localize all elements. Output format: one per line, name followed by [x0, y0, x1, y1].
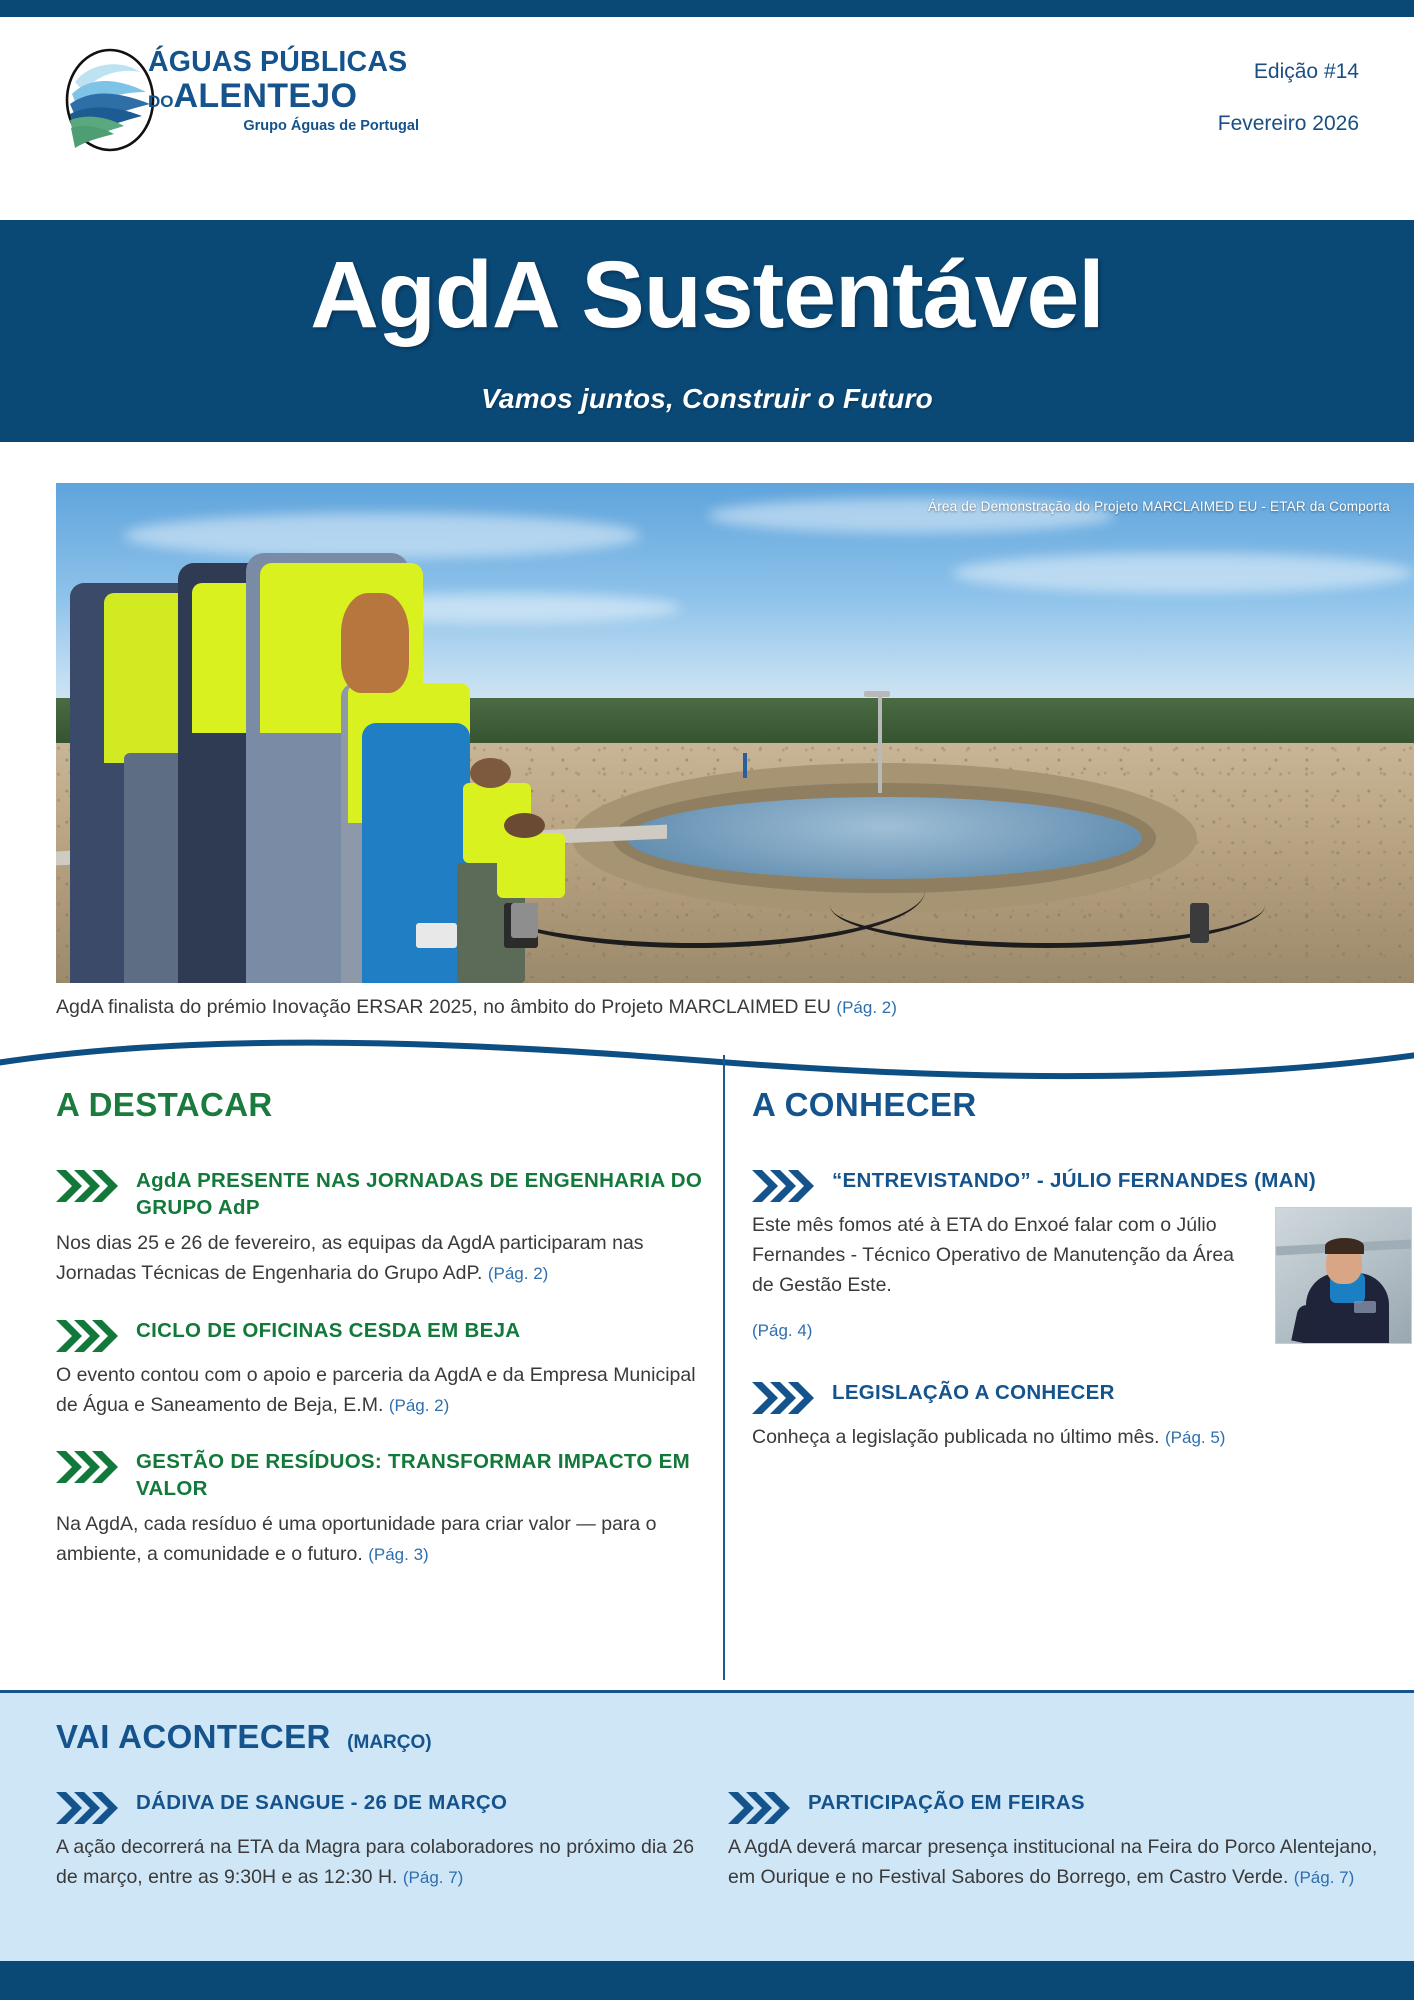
interview-text: Este mês fomos até à ETA do Enxoé falar …: [752, 1203, 1257, 1345]
photo-person-head: [470, 758, 511, 788]
destacar-item[interactable]: CICLO DE OFICINAS CESDA EM BEJA O evento…: [56, 1317, 706, 1420]
hero-overlay-caption: Área de Demonstração do Projeto MARCLAIM…: [928, 499, 1390, 514]
acontecer-item-header: DÁDIVA DE SANGUE - 26 DE MARÇO: [56, 1789, 696, 1825]
edition-info: Edição #14 Fevereiro 2026: [1218, 61, 1359, 165]
destacar-item-header: CICLO DE OFICINAS CESDA EM BEJA: [56, 1317, 706, 1353]
photo-cloud: [124, 513, 640, 558]
photo-hivis-vest: [497, 833, 565, 898]
section-title-acontecer: VAI ACONTECER: [56, 1718, 331, 1755]
photo-cloud: [952, 553, 1414, 593]
conhecer-item-header: LEGISLAÇÃO A CONHECER: [752, 1379, 1412, 1415]
acontecer-item-page-ref[interactable]: (Pág. 7): [1294, 1868, 1354, 1887]
logo-line-1: ÁGUAS PÚBLICAS: [148, 48, 423, 77]
acontecer-section: VAI ACONTECER (MARÇO) DÁDIVA DE SANGUE -…: [0, 1690, 1414, 1964]
conhecer-item[interactable]: “ENTREVISTANDO” - JÚLIO FERNANDES (MAN) …: [752, 1167, 1412, 1345]
photo-person-head: [504, 813, 545, 838]
photo-sample-cylinder: [511, 903, 538, 938]
newsletter-page: ÁGUAS PÚBLICAS DOALENTEJO Grupo Águas de…: [0, 0, 1414, 2000]
bottom-accent-bar: [0, 1961, 1414, 2000]
page-subtitle: Vamos juntos, Construir o Futuro: [0, 383, 1414, 415]
destacar-item-text: Nos dias 25 e 26 de fevereiro, as equipa…: [56, 1232, 644, 1284]
section-title-acontecer-wrap: VAI ACONTECER (MARÇO): [56, 1720, 432, 1753]
destacar-item-title: GESTÃO DE RESÍDUOS: TRANSFORMAR IMPACTO …: [136, 1448, 706, 1502]
destacar-item-page-ref[interactable]: (Pág. 3): [368, 1545, 428, 1564]
logo-do-word: DO: [148, 92, 174, 111]
interviewee-photo: [1275, 1207, 1412, 1344]
acontecer-item-title: DÁDIVA DE SANGUE - 26 DE MARÇO: [136, 1789, 507, 1816]
destacar-item-text: O evento contou com o apoio e parceria d…: [56, 1364, 696, 1416]
logo-wordmark: ÁGUAS PÚBLICAS DOALENTEJO Grupo Águas de…: [148, 48, 423, 134]
destacar-item[interactable]: AgdA PRESENTE NAS JORNADAS DE ENGENHARIA…: [56, 1167, 706, 1289]
conhecer-item-header: “ENTREVISTANDO” - JÚLIO FERNANDES (MAN): [752, 1167, 1412, 1203]
conhecer-item-body: Conheça a legislação publicada no último…: [752, 1422, 1412, 1452]
chevron-triple-icon: [56, 1319, 120, 1353]
conhecer-item-text: Conheça a legislação publicada no último…: [752, 1426, 1160, 1448]
edition-date: Fevereiro 2026: [1218, 113, 1359, 134]
hero-caption: AgdA finalista do prémio Inovação ERSAR …: [56, 996, 897, 1019]
photo-marker-post: [743, 753, 747, 778]
chevron-triple-icon: [56, 1169, 120, 1203]
destacar-item-body: Nos dias 25 e 26 de fevereiro, as equipa…: [56, 1228, 706, 1288]
destacar-item-body: O evento contou com o apoio e parceria d…: [56, 1360, 706, 1420]
top-accent-bar: [0, 0, 1414, 17]
chevron-triple-icon: [752, 1381, 816, 1415]
section-subtitle-acontecer: (MARÇO): [347, 1732, 431, 1753]
conhecer-item-page-ref[interactable]: (Pág. 4): [752, 1321, 812, 1340]
acontecer-item[interactable]: PARTICIPAÇÃO EM FEIRAS A AgdA deverá mar…: [728, 1789, 1388, 1892]
logo-water-drop-icon: [62, 48, 158, 152]
hero-photo-image: [56, 483, 1414, 983]
section-title-conhecer: A CONHECER: [752, 1088, 1412, 1121]
photo-probe: [1190, 903, 1209, 943]
conhecer-item-body: Este mês fomos até à ETA do Enxoé falar …: [752, 1210, 1257, 1301]
conhecer-item-page-ref[interactable]: (Pág. 5): [1165, 1428, 1225, 1447]
conhecer-item[interactable]: LEGISLAÇÃO A CONHECER Conheça a legislaç…: [752, 1379, 1412, 1452]
destacar-item-page-ref[interactable]: (Pág. 2): [389, 1396, 449, 1415]
acontecer-item-body: A ação decorrerá na ETA da Magra para co…: [56, 1832, 696, 1892]
hero-caption-page-ref[interactable]: (Pág. 2): [836, 998, 896, 1017]
portrait-chest-logo: [1354, 1301, 1376, 1313]
masthead: ÁGUAS PÚBLICAS DOALENTEJO Grupo Águas de…: [0, 17, 1414, 220]
conhecer-item-page-wrap: (Pág. 4): [752, 1315, 1257, 1345]
section-title-destacar: A DESTACAR: [56, 1088, 706, 1121]
acontecer-item-page-ref[interactable]: (Pág. 7): [403, 1868, 463, 1887]
destacar-item-header: GESTÃO DE RESÍDUOS: TRANSFORMAR IMPACTO …: [56, 1448, 706, 1502]
acontecer-item-body: A AgdA deverá marcar presença institucio…: [728, 1832, 1388, 1892]
conhecer-item-text: Este mês fomos até à ETA do Enxoé falar …: [752, 1214, 1234, 1296]
destacar-item-header: AgdA PRESENTE NAS JORNADAS DE ENGENHARIA…: [56, 1167, 706, 1221]
edition-number: Edição #14: [1218, 61, 1359, 82]
destacar-item-title: AgdA PRESENTE NAS JORNADAS DE ENGENHARIA…: [136, 1167, 706, 1221]
portrait-hair: [1325, 1238, 1364, 1254]
destacar-item-title: CICLO DE OFICINAS CESDA EM BEJA: [136, 1317, 520, 1344]
acontecer-item-header: PARTICIPAÇÃO EM FEIRAS: [728, 1789, 1388, 1825]
chevron-triple-icon: [56, 1791, 120, 1825]
highlights-section: A DESTACAR AgdA PRESENTE NAS JORNADAS DE…: [0, 1088, 1414, 1668]
logo-line-2: DOALENTEJO: [148, 79, 423, 113]
column-destacar: A DESTACAR AgdA PRESENTE NAS JORNADAS DE…: [56, 1088, 706, 1598]
title-band: AgdA Sustentável Vamos juntos, Construir…: [0, 220, 1414, 442]
destacar-item-page-ref[interactable]: (Pág. 2): [488, 1264, 548, 1283]
destacar-item[interactable]: GESTÃO DE RESÍDUOS: TRANSFORMAR IMPACTO …: [56, 1448, 706, 1570]
acontecer-item-text: A AgdA deverá marcar presença institucio…: [728, 1836, 1377, 1888]
destacar-item-body: Na AgdA, cada resíduo é uma oportunidade…: [56, 1509, 706, 1569]
chevron-triple-icon: [752, 1169, 816, 1203]
acontecer-item-title: PARTICIPAÇÃO EM FEIRAS: [808, 1789, 1085, 1816]
conhecer-item-title: LEGISLAÇÃO A CONHECER: [832, 1379, 1115, 1406]
hero-photo: Área de Demonstração do Projeto MARCLAIM…: [56, 483, 1414, 983]
page-title: AgdA Sustentável: [0, 248, 1414, 343]
photo-sample-box: [416, 923, 457, 948]
interview-block: Este mês fomos até à ETA do Enxoé falar …: [752, 1203, 1412, 1345]
photo-person-head: [341, 593, 409, 693]
photo-lamp-post: [878, 693, 882, 793]
conhecer-item-title: “ENTREVISTANDO” - JÚLIO FERNANDES (MAN): [832, 1167, 1316, 1194]
logo-group-line: Grupo Águas de Portugal: [148, 118, 423, 134]
chevron-triple-icon: [728, 1791, 792, 1825]
chevron-triple-icon: [56, 1450, 120, 1484]
logo-alentejo-word: ALENTEJO: [174, 77, 358, 115]
acontecer-item-text: A ação decorrerá na ETA da Magra para co…: [56, 1836, 694, 1888]
acontecer-item[interactable]: DÁDIVA DE SANGUE - 26 DE MARÇO A ação de…: [56, 1789, 696, 1892]
destacar-item-text: Na AgdA, cada resíduo é uma oportunidade…: [56, 1513, 657, 1565]
hero-caption-text: AgdA finalista do prémio Inovação ERSAR …: [56, 996, 831, 1018]
company-logo: ÁGUAS PÚBLICAS DOALENTEJO Grupo Águas de…: [62, 44, 422, 159]
photo-lamp-head: [864, 691, 890, 697]
column-conhecer: A CONHECER “ENTREVISTANDO” - JÚLIO FERNA…: [752, 1088, 1412, 1480]
